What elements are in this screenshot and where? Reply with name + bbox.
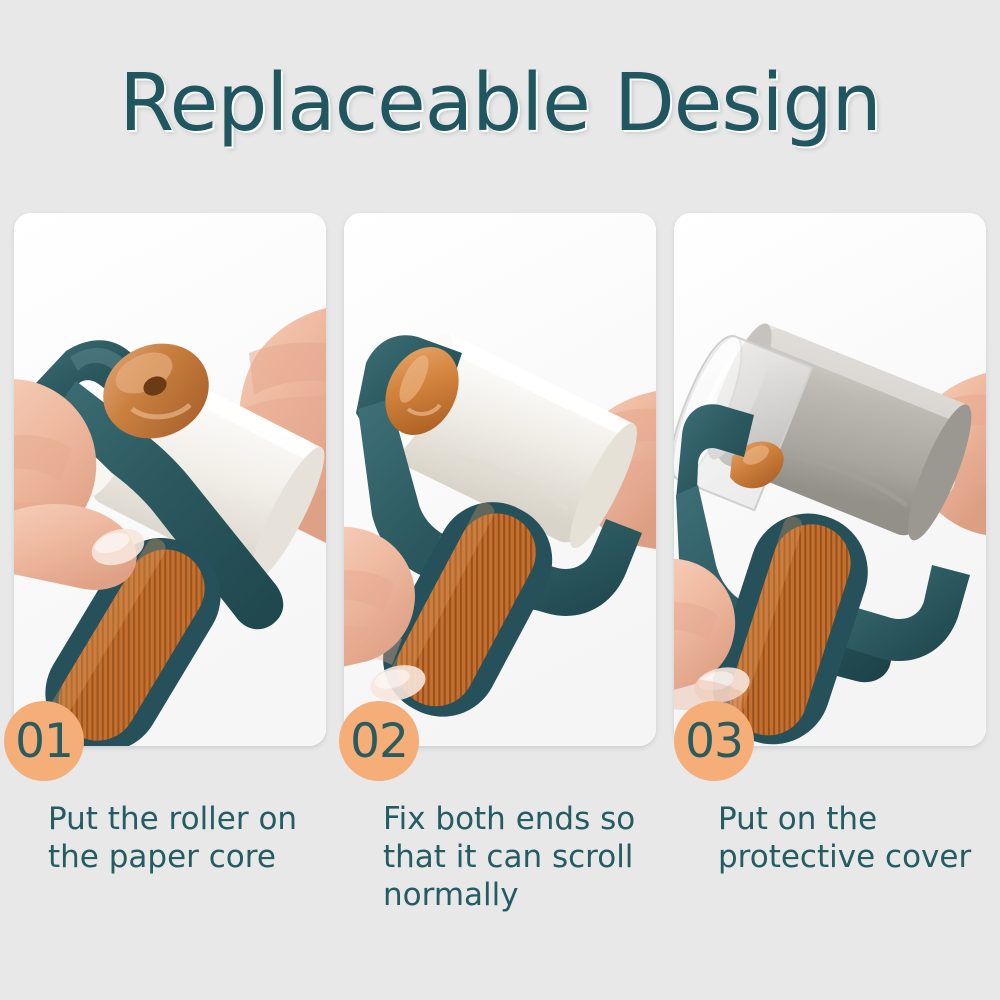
step-badge-1: 01 [4,701,84,781]
step-badge-2: 02 [339,701,419,781]
step-photo-3 [674,213,986,746]
step-badge-3: 03 [674,701,754,781]
step-panel-2 [344,213,656,746]
page-title: Replaceable Design [0,58,1000,148]
step-photo-1 [14,213,326,746]
step-panel-1 [14,213,326,746]
steps-panel-row [14,213,986,746]
step-caption-3: Put on the protective cover [718,800,1000,876]
step-photo-2 [344,213,656,746]
step-panel-3 [674,213,986,746]
step-caption-1: Put the roller on the paper core [48,800,338,876]
step-caption-2: Fix both ends so that it can scroll norm… [383,800,673,914]
